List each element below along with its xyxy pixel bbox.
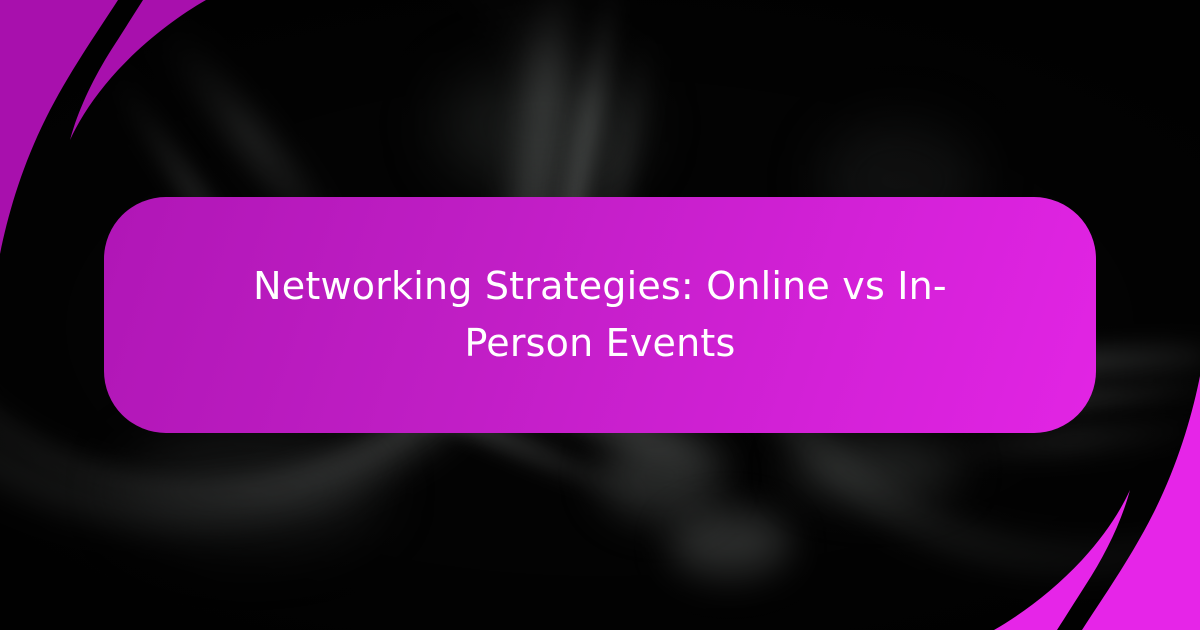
background-glow-blob-4 xyxy=(440,60,640,190)
background-glow-blob-1 xyxy=(600,430,720,520)
page-title: Networking Strategies: Online vs In-Pers… xyxy=(220,258,980,372)
background-glow-blob-5 xyxy=(120,430,380,550)
banner-root: Networking Strategies: Online vs In-Pers… xyxy=(0,0,1200,630)
background-glow-blob-2 xyxy=(670,510,790,580)
title-card: Networking Strategies: Online vs In-Pers… xyxy=(104,197,1096,433)
background-glow-blob-3 xyxy=(790,440,960,500)
